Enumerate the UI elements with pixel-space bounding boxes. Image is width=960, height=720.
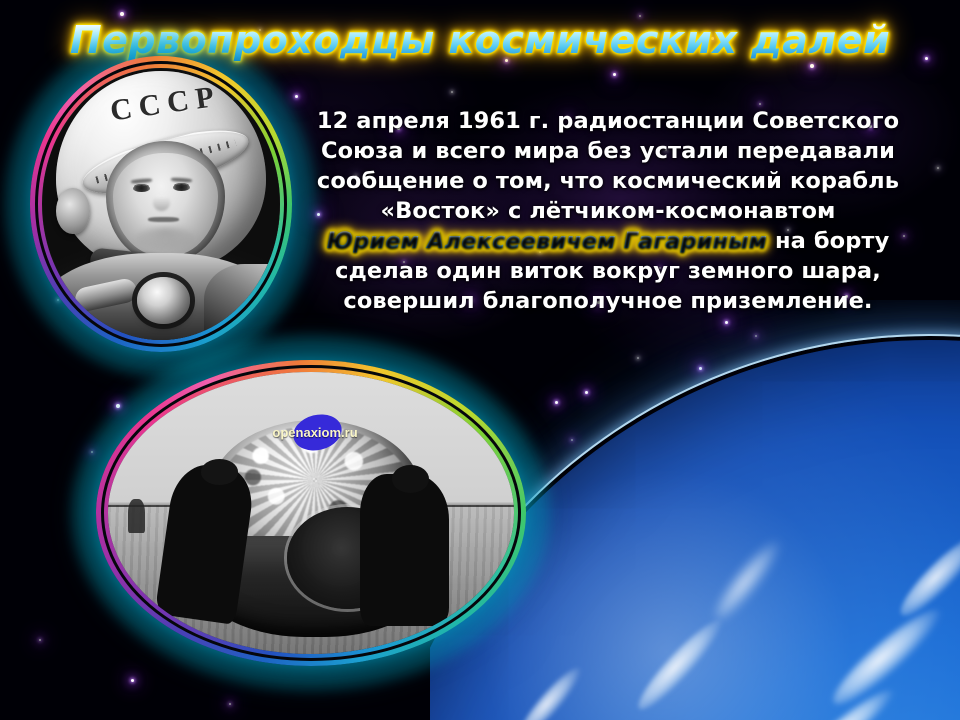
star bbox=[810, 64, 814, 68]
mouth bbox=[148, 217, 179, 222]
slide-body-text: 12 апреля 1961 г. радиостанции Советског… bbox=[288, 106, 928, 316]
body-line-5: Юрием Алексеевичем Гагариным на борту bbox=[288, 226, 928, 256]
eyebrow-left bbox=[131, 178, 152, 183]
star bbox=[131, 679, 134, 682]
gagarin-name-highlight: Юрием Алексеевичем Гагариным bbox=[327, 226, 767, 256]
eye-left bbox=[133, 185, 150, 192]
star bbox=[295, 95, 298, 98]
eyebrow-right bbox=[171, 177, 192, 182]
capsule-photo-area: openaxiom.ru bbox=[108, 372, 514, 654]
eye-right bbox=[173, 184, 190, 191]
chin-shadow bbox=[136, 227, 195, 250]
helmet-ear-cup bbox=[56, 188, 89, 234]
suit-valve bbox=[137, 277, 189, 323]
presentation-slide: Первопроходцы космических далей СССР bbox=[0, 0, 960, 720]
body-line-5-suffix: на борту bbox=[767, 228, 889, 254]
helmet-visor-opening bbox=[106, 141, 225, 261]
photo-gagarin-portrait: СССР bbox=[30, 56, 292, 352]
star bbox=[39, 639, 41, 641]
star bbox=[759, 103, 761, 105]
cosmonaut-face bbox=[113, 153, 218, 256]
person-right-head bbox=[392, 465, 429, 493]
star bbox=[539, 595, 542, 598]
body-line-2: Союза и всего мира без устали передавали bbox=[288, 136, 928, 166]
star bbox=[613, 73, 616, 76]
star bbox=[451, 91, 453, 93]
star bbox=[229, 703, 231, 705]
photo-vostok-landing: openaxiom.ru bbox=[96, 360, 526, 666]
body-line-4: «Восток» с лётчиком-космонавтом bbox=[288, 196, 928, 226]
photo-watermark: openaxiom.ru bbox=[254, 414, 376, 451]
star bbox=[637, 357, 639, 359]
person-left-head bbox=[201, 459, 238, 484]
person-distant bbox=[128, 499, 144, 533]
body-line-7: совершил благополучное приземление. bbox=[288, 286, 928, 316]
star bbox=[585, 391, 588, 394]
star bbox=[937, 167, 939, 169]
nose bbox=[153, 195, 170, 211]
star bbox=[623, 475, 626, 478]
star bbox=[120, 12, 124, 16]
star bbox=[755, 335, 757, 337]
body-line-3: сообщение о том, что космический корабль bbox=[288, 166, 928, 196]
landing-site-photo: openaxiom.ru bbox=[108, 372, 514, 654]
star bbox=[822, 372, 826, 376]
star bbox=[725, 321, 728, 324]
star bbox=[935, 391, 938, 394]
gagarin-photo: СССР bbox=[42, 68, 280, 340]
star bbox=[699, 367, 702, 370]
watermark-text: openaxiom.ru bbox=[272, 425, 357, 440]
star bbox=[555, 401, 558, 404]
person-right bbox=[360, 474, 449, 626]
body-line-1: 12 апреля 1961 г. радиостанции Советског… bbox=[288, 106, 928, 136]
star bbox=[893, 347, 895, 349]
portrait-photo-area: СССР bbox=[42, 68, 280, 340]
suit-shoulder bbox=[204, 264, 280, 335]
body-line-6: сделав один виток вокруг земного шара, bbox=[288, 256, 928, 286]
star bbox=[639, 15, 641, 17]
star bbox=[571, 439, 573, 441]
